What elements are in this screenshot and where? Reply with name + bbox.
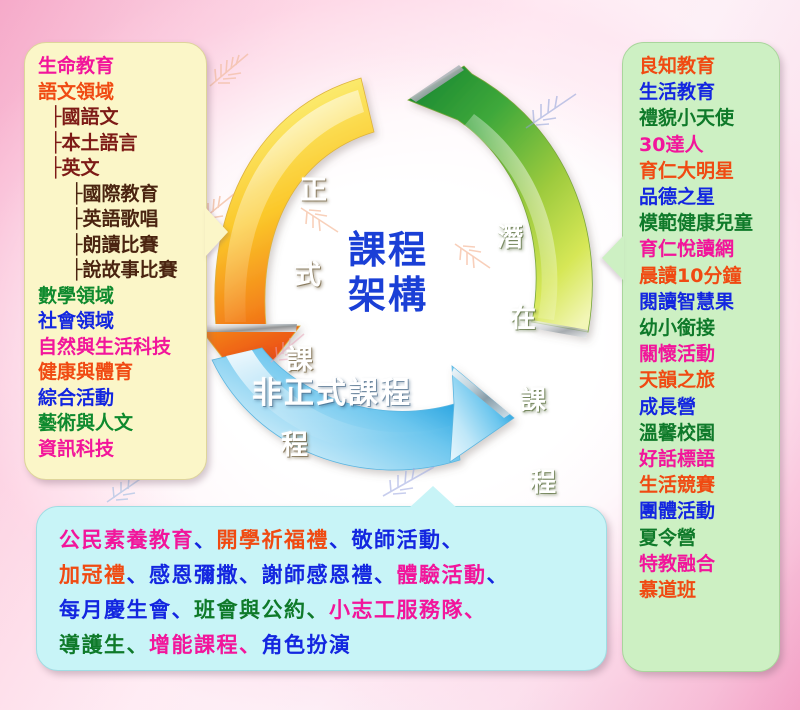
informal-term: 謝師感恩禮	[262, 563, 375, 587]
informal-term: 、	[239, 563, 262, 587]
list-item: 綜合活動	[38, 386, 206, 412]
list-item: 品德之星	[639, 184, 779, 210]
latent-panel-pointer	[602, 235, 624, 281]
list-item: ├國際教育	[38, 182, 206, 208]
list-item: 語文領域	[38, 80, 206, 106]
list-item: ├本土語言	[38, 131, 206, 157]
list-item: 晨讀10分鐘	[639, 263, 779, 289]
formal-curriculum-panel: 生命教育語文領域├國語文├本土語言├英文├國際教育├英語歌唱├朗讀比賽├說故事比…	[24, 42, 207, 480]
informal-term: 公民素養教育	[59, 528, 194, 552]
list-item: 閱讀智慧果	[639, 289, 779, 315]
curriculum-cycle-graphic	[196, 60, 626, 490]
formal-curriculum-list: 生命教育語文領域├國語文├本土語言├英文├國際教育├英語歌唱├朗讀比賽├說故事比…	[25, 43, 206, 462]
informal-term: 增能課程	[149, 633, 239, 657]
diagram-canvas: 正 式 課 程 潛 在 課 程 非正式課程 課程 架構 生命教育語文領域├國語文…	[0, 0, 800, 710]
list-item: 健康與體育	[38, 360, 206, 386]
informal-curriculum-lines: 公民素養教育、開學祈福禮、敬師活動、加冠禮、感恩彌撒、謝師感恩禮、體驗活動、每月…	[37, 507, 606, 663]
informal-panel-pointer	[409, 486, 457, 508]
informal-term: 加冠禮	[59, 563, 127, 587]
list-item: 團體活動	[639, 498, 779, 524]
informal-term: 感恩彌撒	[149, 563, 239, 587]
informal-term: 導護生	[59, 633, 127, 657]
informal-term: 、	[329, 528, 352, 552]
latent-curriculum-arrow	[408, 65, 592, 338]
latent-curriculum-panel: 良知教育生活教育禮貌小天使30達人育仁大明星品德之星模範健康兒童育仁悅讀網晨讀1…	[622, 42, 780, 672]
informal-term: 、	[487, 563, 510, 587]
informal-term: 、	[127, 563, 150, 587]
informal-line: 每月慶生會、班會與公約、小志工服務隊、	[59, 593, 606, 628]
list-item: 模範健康兒童	[639, 210, 779, 236]
formal-panel-pointer	[205, 207, 228, 257]
informal-term: 、	[239, 633, 262, 657]
latent-curriculum-list: 良知教育生活教育禮貌小天使30達人育仁大明星品德之星模範健康兒童育仁悅讀網晨讀1…	[623, 43, 779, 603]
list-item: 社會領域	[38, 309, 206, 335]
list-item: 溫馨校園	[639, 420, 779, 446]
list-item: 育仁悅讀網	[639, 236, 779, 262]
informal-line: 加冠禮、感恩彌撒、謝師感恩禮、體驗活動、	[59, 558, 606, 593]
list-item: 慕道班	[639, 577, 779, 603]
list-item: 藝術與人文	[38, 411, 206, 437]
list-item: 好話標語	[639, 446, 779, 472]
informal-line: 公民素養教育、開學祈福禮、敬師活動、	[59, 523, 606, 558]
list-item: 育仁大明星	[639, 158, 779, 184]
list-item: 成長營	[639, 394, 779, 420]
informal-term: 、	[172, 598, 195, 622]
list-item: ├英語歌唱	[38, 207, 206, 233]
informal-term: 、	[194, 528, 217, 552]
list-item: 禮貌小天使	[639, 105, 779, 131]
list-item: 30達人	[639, 132, 779, 158]
list-item: 數學領域	[38, 284, 206, 310]
list-item: 自然與生活科技	[38, 335, 206, 361]
list-item: ├國語文	[38, 105, 206, 131]
informal-term: 角色扮演	[262, 633, 352, 657]
list-item: ├朗讀比賽	[38, 233, 206, 259]
list-item: 特教融合	[639, 551, 779, 577]
informal-term: 開學祈福禮	[217, 528, 330, 552]
list-item: 生活教育	[639, 79, 779, 105]
list-item: 天韻之旅	[639, 367, 779, 393]
informal-curriculum-panel: 公民素養教育、開學祈福禮、敬師活動、加冠禮、感恩彌撒、謝師感恩禮、體驗活動、每月…	[36, 506, 607, 671]
list-item: 良知教育	[639, 53, 779, 79]
informal-term: 敬師活動	[352, 528, 442, 552]
list-item: ├說故事比賽	[38, 258, 206, 284]
list-item: 資訊科技	[38, 437, 206, 463]
informal-curriculum-arrow	[212, 348, 514, 470]
informal-line: 導護生、增能課程、角色扮演	[59, 628, 606, 663]
informal-term: 小志工服務隊	[329, 598, 464, 622]
informal-term: 、	[442, 528, 465, 552]
informal-term: 體驗活動	[397, 563, 487, 587]
list-item: 幼小銜接	[639, 315, 779, 341]
list-item: 生命教育	[38, 54, 206, 80]
informal-term: 、	[464, 598, 487, 622]
list-item: 生活競賽	[639, 472, 779, 498]
informal-term: 每月慶生會	[59, 598, 172, 622]
informal-term: 、	[374, 563, 397, 587]
list-item: 關懷活動	[639, 341, 779, 367]
informal-term: 、	[127, 633, 150, 657]
informal-term: 班會與公約	[194, 598, 307, 622]
list-item: 夏令營	[639, 525, 779, 551]
informal-term: 、	[307, 598, 330, 622]
list-item: ├英文	[38, 156, 206, 182]
